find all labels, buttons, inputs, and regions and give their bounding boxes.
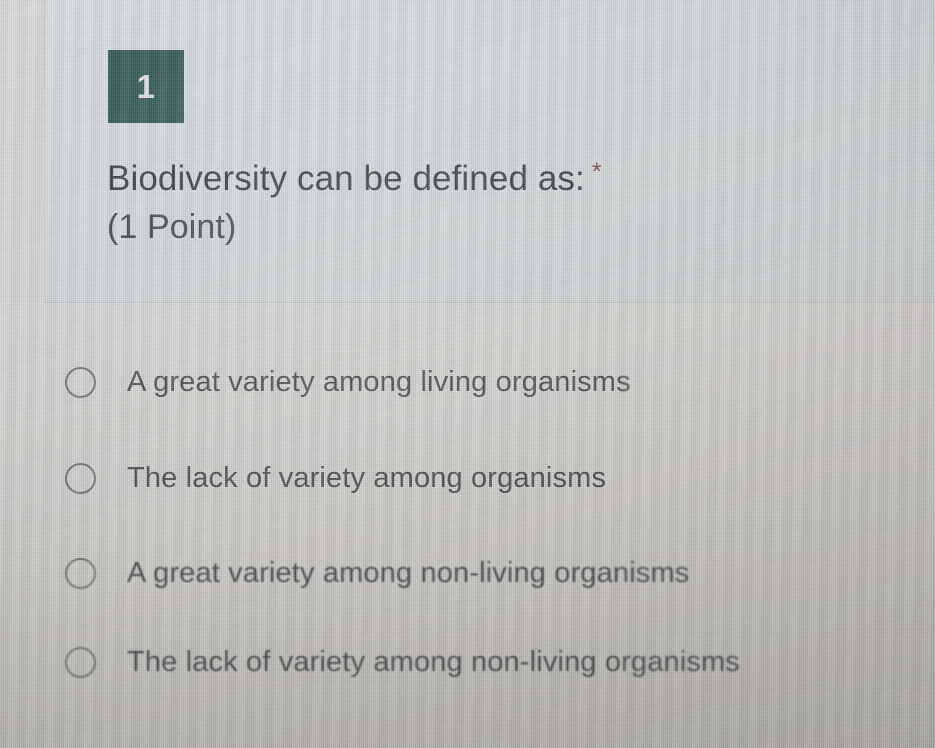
- question-points-label: (1 Point): [107, 208, 236, 246]
- question-number-badge: 1: [108, 50, 184, 123]
- option-label-3: A great variety among non-living organis…: [127, 557, 689, 590]
- option-row-1[interactable]: A great variety among living organisms: [0, 354, 935, 410]
- option-label-2: The lack of variety among organisms: [127, 462, 606, 495]
- option-row-3[interactable]: A great variety among non-living organis…: [0, 545, 935, 601]
- question-title: Biodiversity can be defined as:*: [107, 158, 602, 198]
- option-row-2[interactable]: The lack of variety among organisms: [0, 450, 935, 506]
- required-asterisk-icon: *: [592, 158, 602, 186]
- card-left-edge: [44, 0, 45, 302]
- forms-question-screen: 1 Biodiversity can be defined as:* (1 Po…: [0, 0, 935, 748]
- radio-button-option-4[interactable]: [65, 647, 96, 678]
- option-label-4: The lack of variety among non-living org…: [127, 646, 740, 679]
- option-label-1: A great variety among living organisms: [127, 366, 631, 399]
- radio-button-option-2[interactable]: [65, 463, 96, 494]
- question-card: [44, 0, 935, 303]
- radio-button-option-3[interactable]: [65, 558, 96, 589]
- question-text: Biodiversity can be defined as:: [107, 159, 585, 198]
- photographed-screen: 1 Biodiversity can be defined as:* (1 Po…: [0, 0, 935, 748]
- radio-button-option-1[interactable]: [65, 367, 96, 398]
- question-number-label: 1: [137, 70, 156, 103]
- question-card-gutter: [0, 0, 44, 302]
- option-row-4[interactable]: The lack of variety among non-living org…: [0, 634, 935, 690]
